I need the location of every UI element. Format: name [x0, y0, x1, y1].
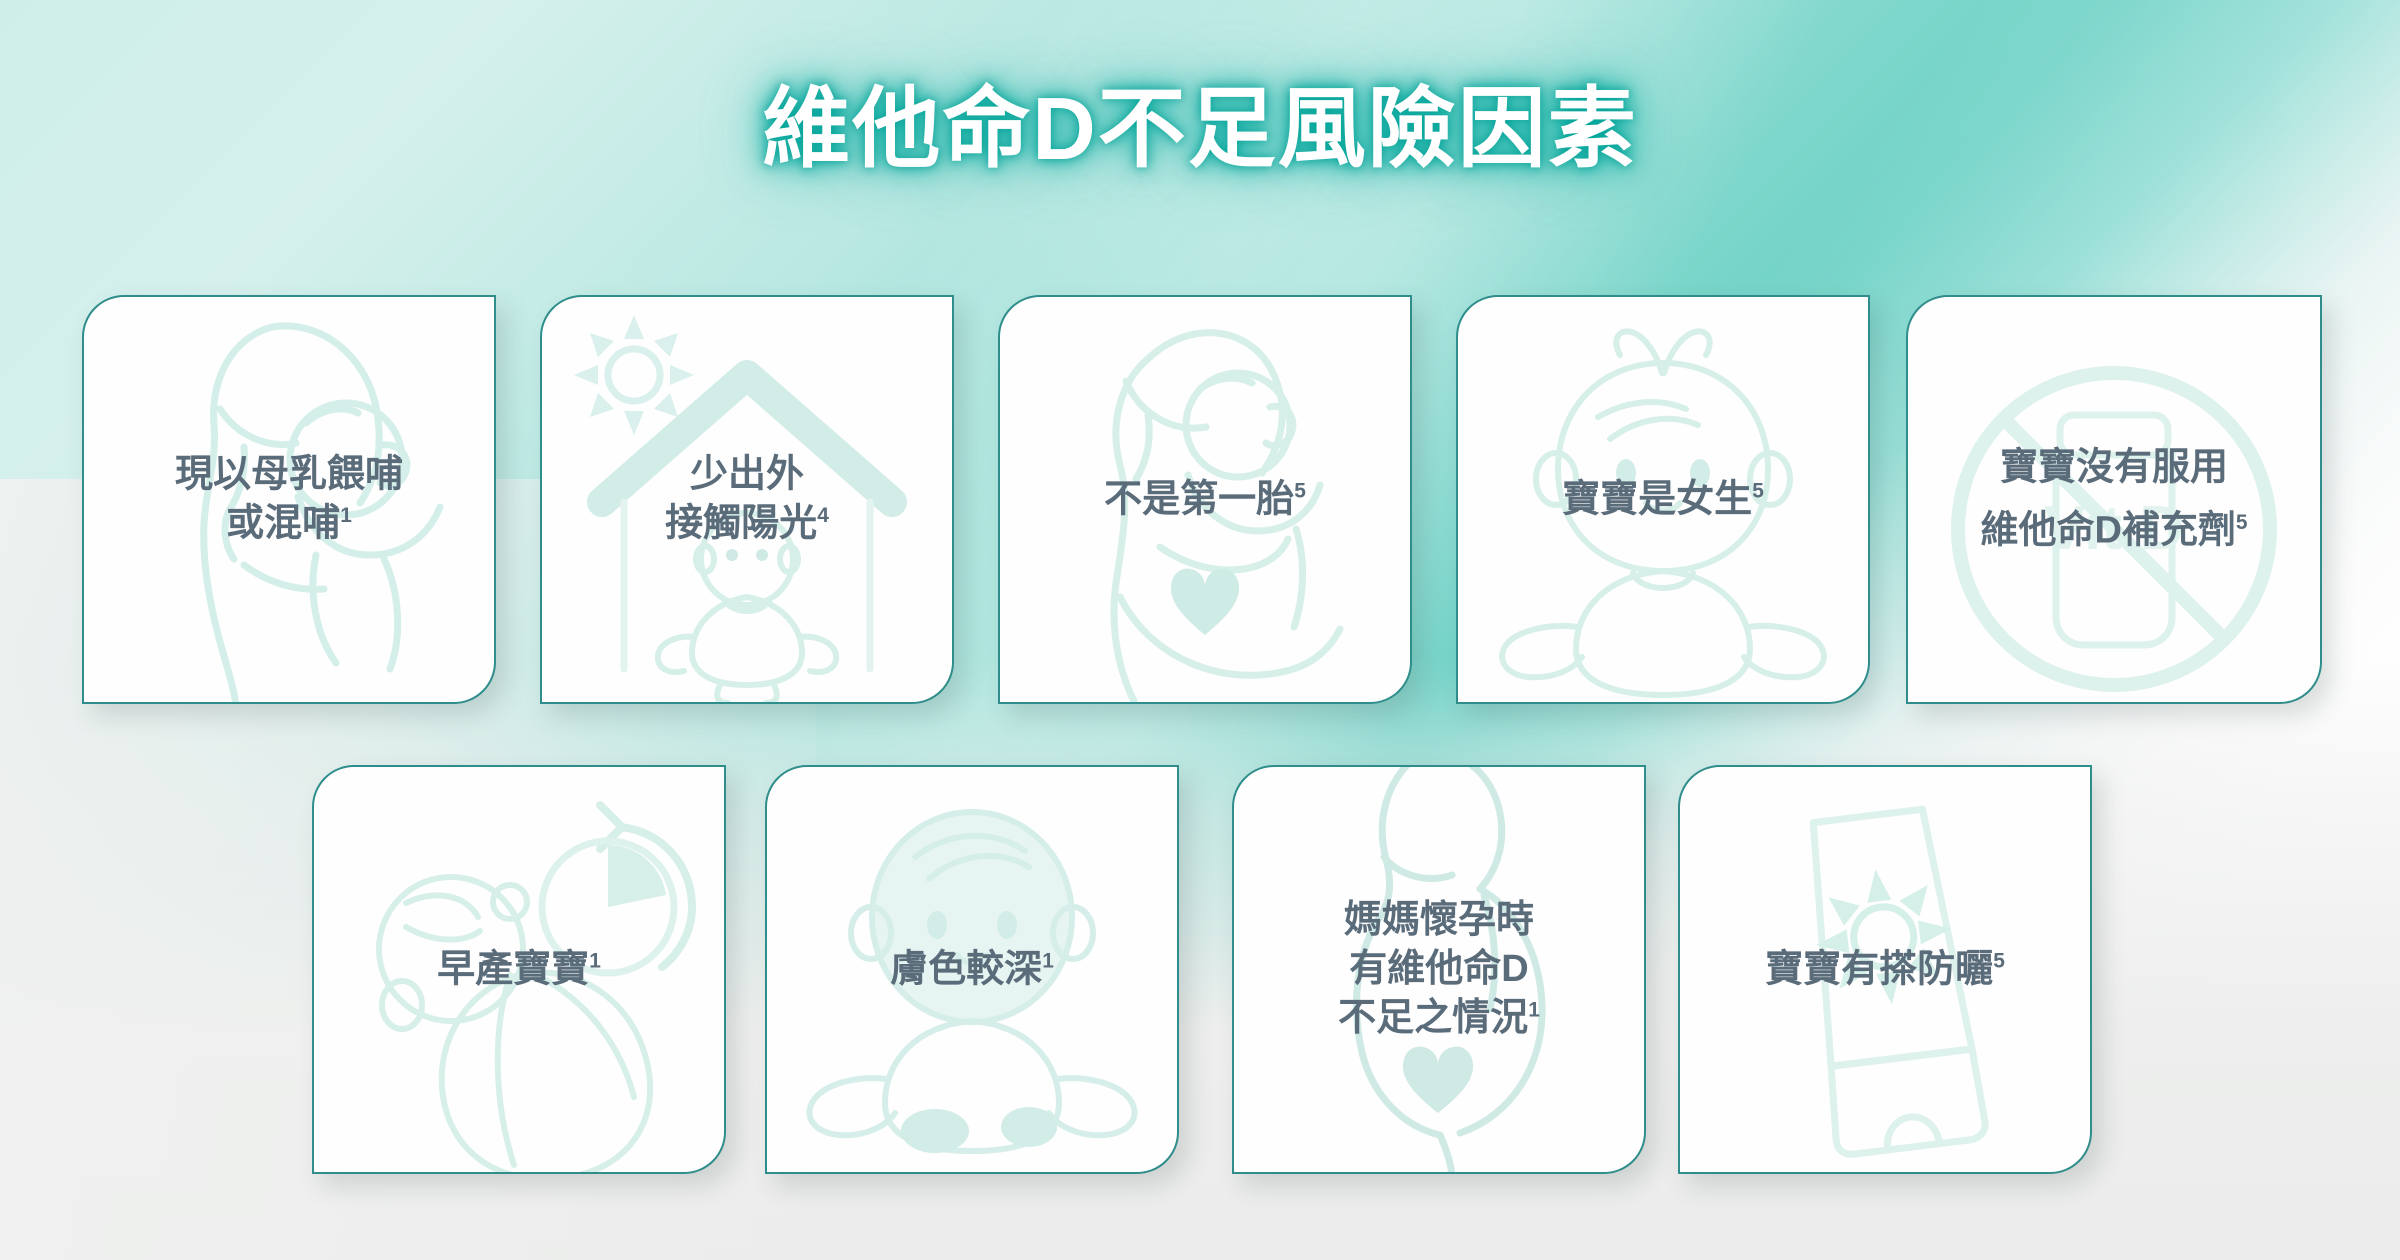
heart-icon	[1403, 1047, 1473, 1113]
risk-card-not-firstborn[interactable]: 不是第一胎5	[998, 295, 1412, 704]
risk-card-mother-deficient[interactable]: 媽媽懷孕時有維他命D不足之情況1	[1232, 765, 1646, 1174]
risk-card-label: 寶寶是女生5	[1458, 475, 1868, 524]
risk-card-premature-baby[interactable]: 早產寶寶1	[312, 765, 726, 1174]
risk-card-sunscreen[interactable]: 寶寶有搽防曬5	[1678, 765, 2092, 1174]
risk-card-label: 現以母乳餵哺或混哺1	[84, 450, 494, 549]
risk-card-label: 寶寶有搽防曬5	[1680, 945, 2090, 994]
page-title: 維他命D不足風險因素	[0, 58, 2400, 185]
heart-icon	[1171, 569, 1239, 635]
risk-card-darker-skin[interactable]: 膚色較深1	[765, 765, 1179, 1174]
risk-card-label: 媽媽懷孕時有維他命D不足之情況1	[1234, 895, 1644, 1043]
sun-icon	[574, 315, 694, 435]
risk-card-label: 寶寶沒有服用維他命D補充劑5	[1908, 443, 2320, 556]
risk-card-label: 膚色較深1	[767, 945, 1177, 994]
risk-card-label: 不是第一胎5	[1000, 475, 1410, 524]
risk-card-breastfeeding[interactable]: 現以母乳餵哺或混哺1	[82, 295, 496, 704]
risk-card-label: 早產寶寶1	[314, 945, 724, 994]
risk-card-no-vitd-supplement[interactable]: Vit D 寶寶沒有服用維他命D補充劑5	[1906, 295, 2322, 704]
risk-card-baby-is-girl[interactable]: 寶寶是女生5	[1456, 295, 1870, 704]
risk-card-label: 少出外接觸陽光4	[542, 450, 952, 549]
risk-card-less-sunlight[interactable]: 少出外接觸陽光4	[540, 295, 954, 704]
